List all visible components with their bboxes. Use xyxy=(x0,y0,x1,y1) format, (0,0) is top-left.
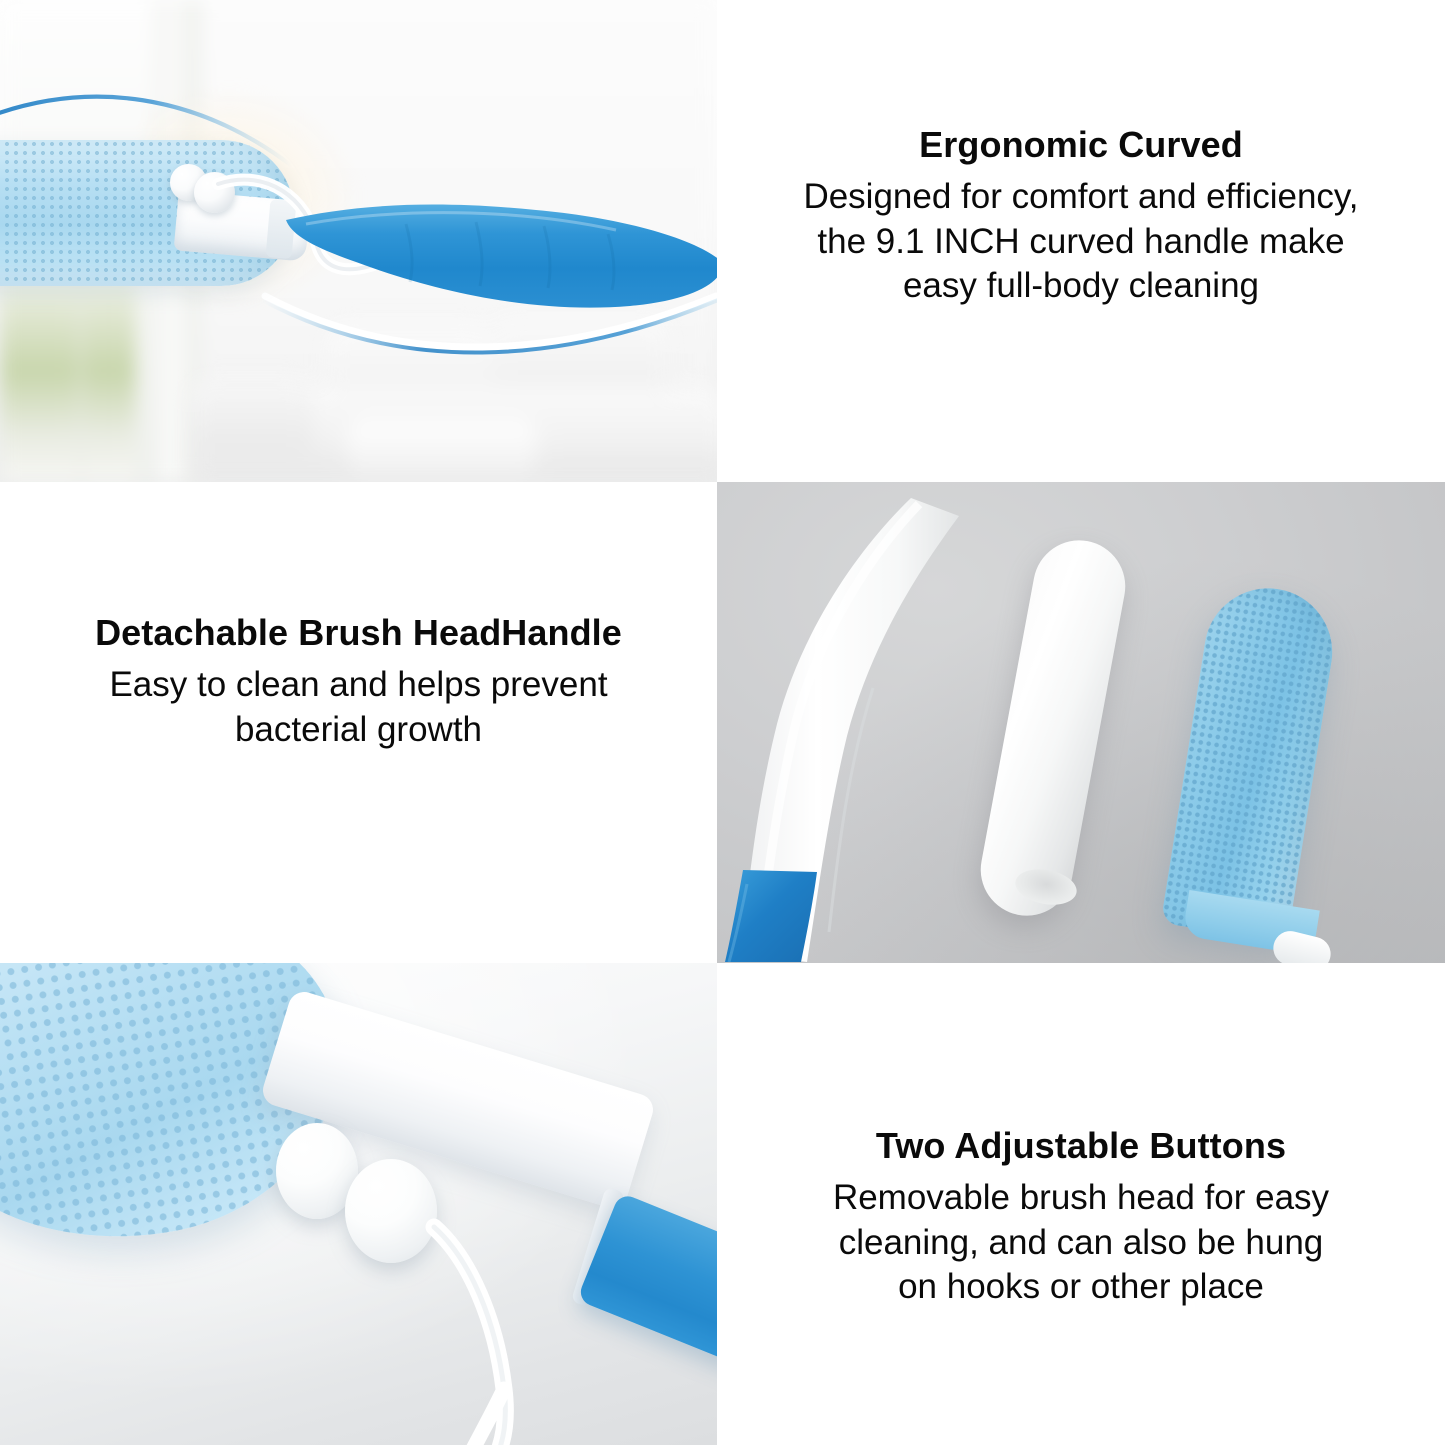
blurred-sofa xyxy=(179,318,717,482)
feature-body-line: on hooks or other place xyxy=(833,1265,1329,1310)
feature-panel-detachable: Detachable Brush HeadHandle Easy to clea… xyxy=(0,482,717,963)
feature-body-line: Removable brush head for easy xyxy=(833,1176,1329,1221)
feature-heading-detachable: Detachable Brush HeadHandle xyxy=(95,610,622,657)
product-infographic: Ergonomic Curved Designed for comfort an… xyxy=(0,0,1445,1445)
feature-body-line: cleaning, and can also be hung xyxy=(833,1221,1329,1266)
disassembled-parts-photo xyxy=(717,482,1445,963)
feature-body-line: bacterial growth xyxy=(109,708,607,753)
feature-body-line: easy full-body cleaning xyxy=(803,264,1358,309)
feature-heading-buttons: Two Adjustable Buttons xyxy=(876,1123,1286,1170)
feature-body-line: the 9.1 INCH curved handle make xyxy=(803,220,1358,265)
window-with-foliage xyxy=(0,270,136,482)
hero-product-photo xyxy=(0,0,717,482)
feature-body-detachable: Easy to clean and helps prevent bacteria… xyxy=(109,663,607,753)
feature-body-line: Easy to clean and helps prevent xyxy=(109,663,607,708)
feature-body-buttons: Removable brush head for easy cleaning, … xyxy=(833,1176,1329,1310)
feature-panel-ergonomic: Ergonomic Curved Designed for comfort an… xyxy=(717,0,1445,482)
blue-curved-handle xyxy=(286,196,717,314)
feature-panel-buttons: Two Adjustable Buttons Removable brush h… xyxy=(717,963,1445,1445)
feature-heading-ergonomic: Ergonomic Curved xyxy=(919,122,1243,169)
adjustable-buttons-photo xyxy=(0,963,717,1445)
feature-body-line: Designed for comfort and efficiency, xyxy=(803,175,1358,220)
feature-body-ergonomic: Designed for comfort and efficiency, the… xyxy=(803,175,1358,309)
